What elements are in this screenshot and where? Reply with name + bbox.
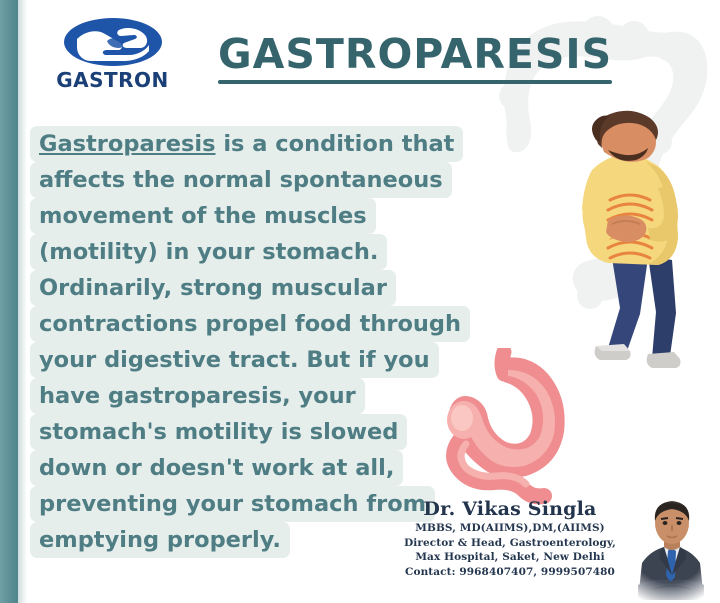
paragraph-line: affects the normal spontaneous xyxy=(30,162,452,198)
paragraph-line: preventing your stomach from xyxy=(30,486,435,522)
paragraph-line: have gastroparesis, your xyxy=(30,378,365,414)
page-title-block: GASTROPARESIS xyxy=(218,30,612,84)
paragraph-line: down or doesn't work at all, xyxy=(30,450,403,486)
paragraph-line: your digestive tract. But if you xyxy=(30,342,439,378)
doctor-details: Dr. Vikas Singla MBBS, MD(AIIMS),DM,(AII… xyxy=(404,497,616,579)
paragraph-line: emptying properly. xyxy=(30,522,290,558)
poster-canvas: GASTRON GASTROPARESIS Gastroparesis is a… xyxy=(0,0,720,603)
doctor-qualifications: MBBS, MD(AIIMS),DM,(AIIMS) xyxy=(404,521,616,536)
paragraph-line: movement of the muscles xyxy=(30,198,376,234)
doctor-hospital: Max Hospital, Saket, New Delhi xyxy=(404,550,616,565)
paragraph-line: Gastroparesis is a condition that xyxy=(30,126,463,162)
gastron-logo-wordmark: GASTRON xyxy=(55,68,170,92)
doctor-credit-block: Dr. Vikas Singla MBBS, MD(AIIMS),DM,(AII… xyxy=(404,497,720,603)
doctor-designation: Director & Head, Gastroenterology, xyxy=(404,536,616,551)
paragraph-line: contractions propel food through xyxy=(30,306,470,342)
left-accent-bar-shadow xyxy=(18,0,27,603)
page-title-underline xyxy=(218,80,612,84)
paragraph-line-rest: is a condition that xyxy=(216,131,455,157)
definition-paragraph: Gastroparesis is a condition that affect… xyxy=(30,126,450,558)
page-title: GASTROPARESIS xyxy=(218,30,612,78)
paragraph-line: stomach's motility is slowed xyxy=(30,414,407,450)
doctor-contact: Contact: 9968407407, 9999507480 xyxy=(404,565,616,580)
paragraph-line: Ordinarily, strong muscular xyxy=(30,270,396,306)
man-holding-stomach-illustration xyxy=(552,108,720,373)
gastron-logo: GASTRON xyxy=(55,17,170,97)
doctor-name: Dr. Vikas Singla xyxy=(404,497,616,521)
caring-hands-ellipse-icon xyxy=(63,17,163,67)
left-accent-bar xyxy=(0,0,18,603)
doctor-headshot-photo xyxy=(620,497,720,600)
paragraph-line: (motility) in your stomach. xyxy=(30,234,387,270)
lead-word: Gastroparesis xyxy=(39,131,216,157)
